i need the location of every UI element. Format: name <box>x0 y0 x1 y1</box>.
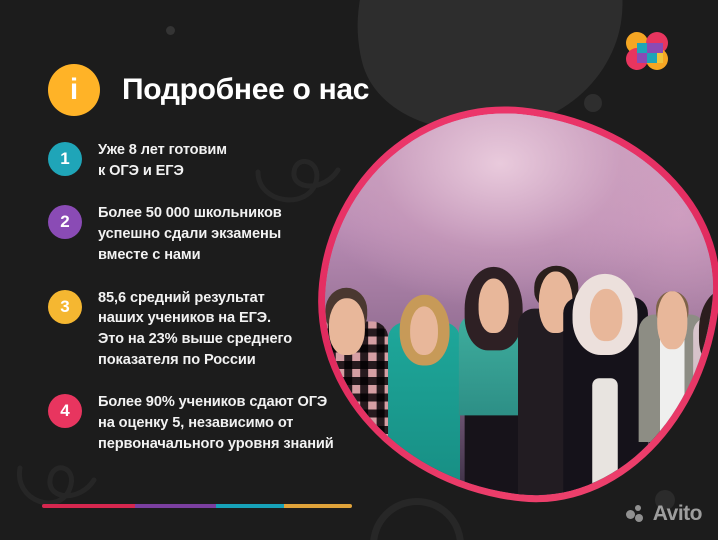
person-2 <box>388 251 460 512</box>
slide-root: i Подробнее о нас 1 Уже 8 лет готовим к … <box>0 0 718 540</box>
list-item: 4 Более 90% учеников сдают ОГЭ на оценку… <box>48 392 360 454</box>
list-item: 1 Уже 8 лет готовим к ОГЭ и ЕГЭ <box>48 140 360 181</box>
page-title: Подробнее о нас <box>122 73 369 107</box>
color-bar-segment-teal <box>216 504 284 508</box>
color-bar-segment-crimson <box>42 504 135 508</box>
list-item-text: Более 50 000 школьников успешно сдали эк… <box>98 203 282 265</box>
info-icon: i <box>48 64 100 116</box>
list-item-number-badge: 3 <box>48 290 82 324</box>
brand-logo-99-icon <box>624 30 672 74</box>
color-bar-segment-amber <box>284 504 352 508</box>
avito-dots-icon <box>626 505 648 523</box>
list-item-number: 4 <box>60 401 69 421</box>
slide-header: i Подробнее о нас <box>48 64 369 116</box>
photo-people-group <box>306 96 718 512</box>
list-item-text: 85,6 средний результат наших учеников на… <box>98 288 292 371</box>
list-item-number-badge: 2 <box>48 205 82 239</box>
info-icon-glyph: i <box>70 75 78 105</box>
facts-list: 1 Уже 8 лет готовим к ОГЭ и ЕГЭ 2 Более … <box>48 140 360 455</box>
list-item-number-badge: 4 <box>48 394 82 428</box>
person-5 <box>563 234 648 512</box>
list-item: 2 Более 50 000 школьников успешно сдали … <box>48 203 360 265</box>
team-photo <box>318 108 718 500</box>
avito-label: Avito <box>653 502 702 526</box>
list-item-text: Более 90% учеников сдают ОГЭ на оценку 5… <box>98 392 334 454</box>
accent-color-bar <box>42 504 352 508</box>
color-bar-segment-purple <box>135 504 216 508</box>
list-item-text: Уже 8 лет готовим к ОГЭ и ЕГЭ <box>98 140 227 181</box>
list-item-number: 3 <box>60 297 69 317</box>
background-dot-small <box>166 26 175 35</box>
list-item-number-badge: 1 <box>48 142 82 176</box>
avito-watermark: Avito <box>626 502 702 526</box>
background-ring-outline <box>370 498 464 540</box>
list-item-number: 2 <box>60 212 69 232</box>
list-item-number: 1 <box>60 149 69 169</box>
list-item: 3 85,6 средний результат наших учеников … <box>48 288 360 371</box>
photo-blob-clip <box>306 96 718 512</box>
